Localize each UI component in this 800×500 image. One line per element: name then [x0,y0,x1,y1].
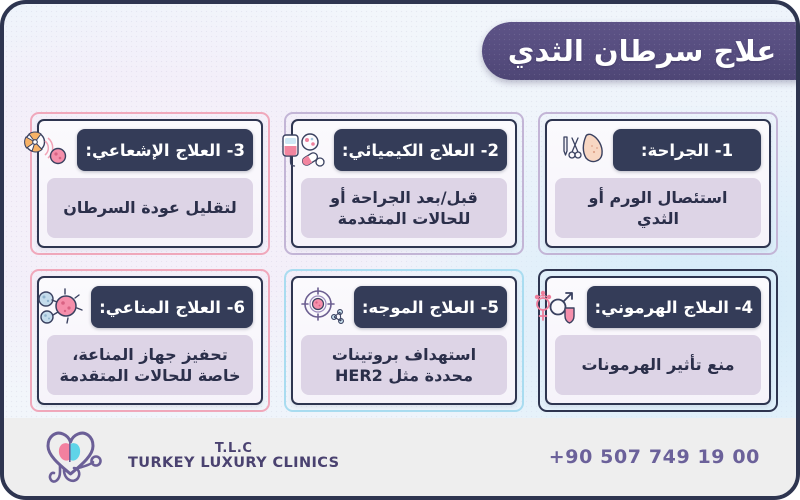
surgery-breast-scalpel-icon [555,128,607,172]
card-surgery-body-panel: استئصال الورم أو الثدي [555,178,761,238]
card-radiotherapy-inner: 3- العلاج الإشعاعي: [37,119,263,248]
card-radiotherapy[interactable]: 3- العلاج الإشعاعي: [30,112,270,255]
card-radiotherapy-title: 3- العلاج الإشعاعي: [85,141,245,160]
brand-block: T.L.C TURKEY LUXURY CLINICS [34,422,339,492]
page-title-bar: علاج سرطان الثدي [482,22,800,80]
card-immunotherapy-title-pill: 6- العلاج المناعي: [91,286,253,328]
card-targeted-therapy-inner: 5- العلاج الموجه: [291,276,517,405]
cards-row-bottom: 4- العلاج الهرموني: [30,269,778,412]
footer-bar: T.L.C TURKEY LUXURY CLINICS +90 507 749 … [4,418,796,496]
card-surgery-title: 1- الجراحة: [641,141,733,160]
card-immunotherapy-inner: 6- العلاج المناعي: [37,276,263,405]
card-radiotherapy-body-panel: لتقليل عودة السرطان [47,178,253,238]
card-chemotherapy-body-panel: قبل/بعد الجراحة أو للحالات المتقدمة [301,178,507,238]
card-hormone-therapy-body: منع تأثير الهرمونات [581,354,734,375]
page-title: علاج سرطان الثدي [508,34,776,68]
card-targeted-therapy[interactable]: 5- العلاج الموجه: [284,269,524,412]
card-chemotherapy-body: قبل/بعد الجراحة أو للحالات المتقدمة [311,187,497,229]
brand-text-block: T.L.C TURKEY LUXURY CLINICS [128,442,339,472]
brand-name: TURKEY LUXURY CLINICS [128,456,339,472]
card-surgery[interactable]: 1- الجراحة: [538,112,778,255]
card-hormone-therapy[interactable]: 4- العلاج الهرموني: [538,269,778,412]
chemotherapy-iv-pills-icon [276,128,328,172]
treatment-cards-grid: 1- الجراحة: [30,112,778,412]
card-hormone-therapy-title-pill: 4- العلاج الهرموني: [587,286,761,328]
card-immunotherapy-title: 6- العلاج المناعي: [99,298,245,317]
hormone-gender-symbols-icon [529,285,581,329]
card-hormone-therapy-title: 4- العلاج الهرموني: [595,298,753,317]
card-hormone-therapy-inner: 4- العلاج الهرموني: [545,276,771,405]
card-hormone-therapy-body-panel: منع تأثير الهرمونات [555,335,761,395]
card-targeted-therapy-body-panel: استهداف بروتينات محددة مثل HER2 [301,335,507,395]
card-surgery-body: استئصال الورم أو الثدي [565,187,751,229]
immune-cells-icon [33,285,85,329]
card-immunotherapy[interactable]: 6- العلاج المناعي: [30,269,270,412]
card-surgery-title-pill: 1- الجراحة: [613,129,761,171]
targeted-therapy-crosshair-icon [296,285,348,329]
card-chemotherapy-title-pill: 2- العلاج الكيميائي: [334,129,507,171]
infographic-poster: علاج سرطان الثدي 1- الجراحة: [0,0,800,500]
cards-row-top: 1- الجراحة: [30,112,778,255]
card-chemotherapy-title: 2- العلاج الكيميائي: [342,141,499,160]
card-radiotherapy-header: 3- العلاج الإشعاعي: [47,128,253,172]
card-immunotherapy-body: تحفيز جهاز المناعة، خاصة للحالات المتقدم… [57,344,243,386]
card-immunotherapy-header: 6- العلاج المناعي: [47,285,253,329]
card-targeted-therapy-body: استهداف بروتينات محددة مثل HER2 [311,344,497,386]
card-chemotherapy-inner: 2- العلاج الكيميائي: [291,119,517,248]
brand-abbreviation: T.L.C [215,442,253,456]
card-targeted-therapy-header: 5- العلاج الموجه: [301,285,507,329]
card-targeted-therapy-title: 5- العلاج الموجه: [362,298,499,317]
contact-phone-number[interactable]: +90 507 749 19 00 [549,446,760,468]
card-chemotherapy[interactable]: 2- العلاج الكيميائي: [284,112,524,255]
radiation-cell-icon [19,128,71,172]
card-surgery-header: 1- الجراحة: [555,128,761,172]
card-radiotherapy-body: لتقليل عودة السرطان [63,197,237,218]
card-immunotherapy-body-panel: تحفيز جهاز المناعة، خاصة للحالات المتقدم… [47,335,253,395]
card-targeted-therapy-title-pill: 5- العلاج الموجه: [354,286,507,328]
card-chemotherapy-header: 2- العلاج الكيميائي: [301,128,507,172]
card-hormone-therapy-header: 4- العلاج الهرموني: [555,285,761,329]
card-radiotherapy-title-pill: 3- العلاج الإشعاعي: [77,129,253,171]
heart-butterfly-stethoscope-logo [34,422,122,492]
card-surgery-inner: 1- الجراحة: [545,119,771,248]
